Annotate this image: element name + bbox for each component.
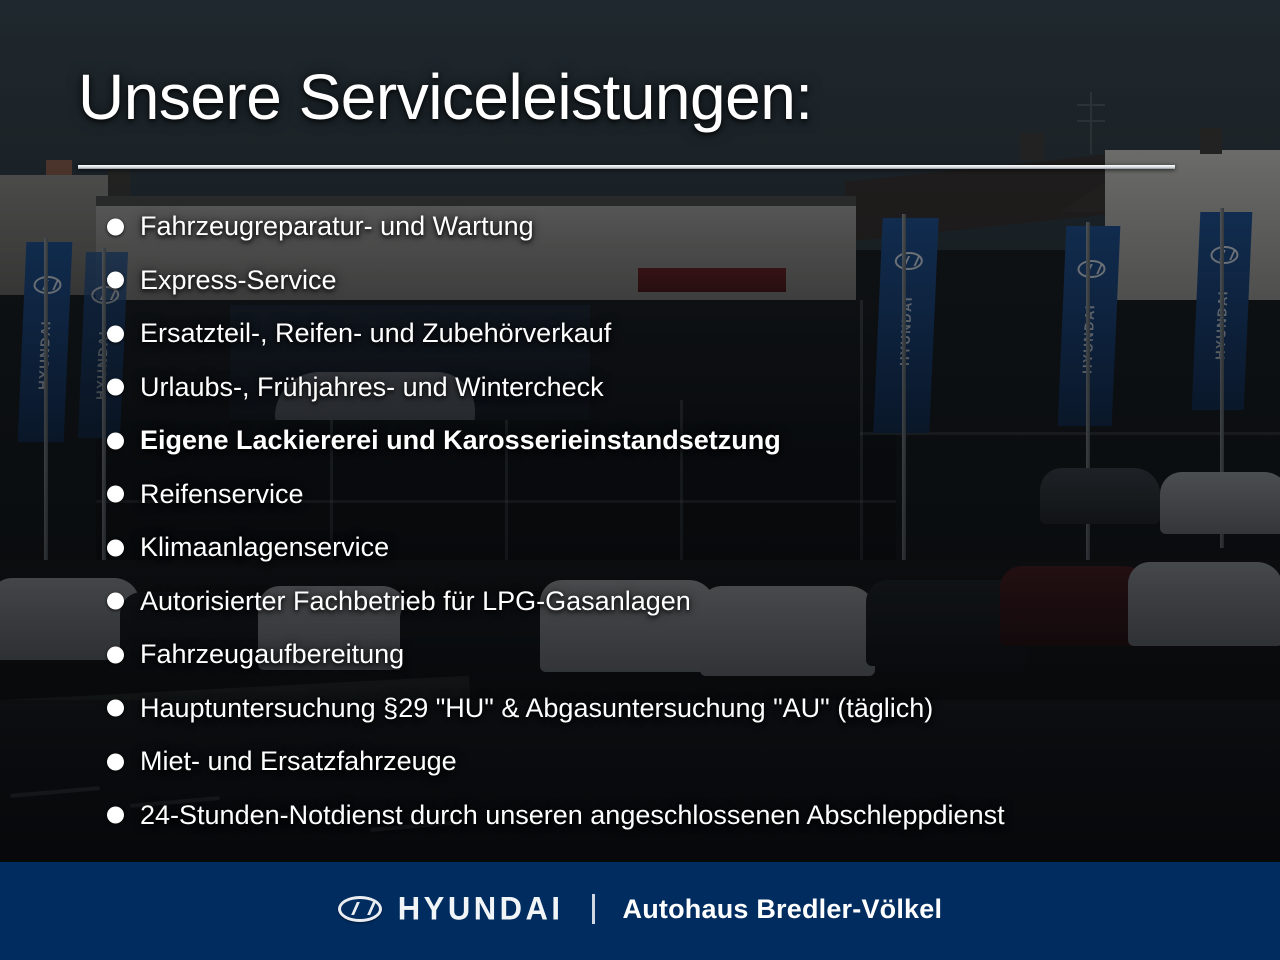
bullet-icon (107, 539, 124, 556)
list-item: Express-Service (100, 254, 1260, 308)
list-item-label: 24-Stunden-Notdienst durch unseren anges… (140, 800, 1005, 831)
bullet-icon (107, 325, 124, 342)
bullet-icon (107, 807, 124, 824)
hyundai-logo-icon (338, 896, 382, 922)
separator-divider (592, 894, 595, 924)
list-item: Ersatzteil-, Reifen- und Zubehörverkauf (100, 307, 1260, 361)
list-item: Reifenservice (100, 468, 1260, 522)
list-item-label: Eigene Lackiererei und Karosserieinstand… (140, 425, 781, 456)
bullet-icon (107, 646, 124, 663)
bullet-icon (107, 432, 124, 449)
list-item: Eigene Lackiererei und Karosserieinstand… (100, 414, 1260, 468)
title-divider (78, 165, 1175, 169)
list-item-label: Urlaubs-, Frühjahres- und Wintercheck (140, 372, 604, 403)
bullet-icon (107, 753, 124, 770)
list-item: Hauptuntersuchung §29 "HU" & Abgasunters… (100, 682, 1260, 736)
page-title: Unsere Serviceleistungen: (78, 60, 813, 134)
list-item-label: Fahrzeugaufbereitung (140, 639, 404, 670)
list-item-label: Ersatzteil-, Reifen- und Zubehörverkauf (140, 318, 611, 349)
list-item-label: Klimaanlagenservice (140, 532, 389, 563)
list-item-label: Fahrzeugreparatur- und Wartung (140, 211, 534, 242)
list-item-label: Express-Service (140, 265, 337, 296)
services-list: Fahrzeugreparatur- und Wartung Express-S… (100, 200, 1260, 842)
slide-content: Unsere Serviceleistungen: Fahrzeugrepara… (0, 0, 1280, 960)
footer-bar: HYUNDAI Autohaus Bredler-Völkel (0, 862, 1280, 960)
bullet-icon (107, 218, 124, 235)
bullet-icon (107, 700, 124, 717)
bullet-icon (107, 486, 124, 503)
list-item: Fahrzeugreparatur- und Wartung (100, 200, 1260, 254)
list-item-label: Autorisierter Fachbetrieb für LPG-Gasanl… (140, 586, 691, 617)
list-item: Fahrzeugaufbereitung (100, 628, 1260, 682)
bullet-icon (107, 379, 124, 396)
list-item-label: Reifenservice (140, 479, 304, 510)
brand-wordmark: HYUNDAI (398, 890, 564, 928)
bullet-icon (107, 593, 124, 610)
list-item: 24-Stunden-Notdienst durch unseren anges… (100, 789, 1260, 843)
list-item: Autorisierter Fachbetrieb für LPG-Gasanl… (100, 575, 1260, 629)
list-item: Miet- und Ersatzfahrzeuge (100, 735, 1260, 789)
list-item-label: Miet- und Ersatzfahrzeuge (140, 746, 457, 777)
list-item: Klimaanlagenservice (100, 521, 1260, 575)
list-item-label: Hauptuntersuchung §29 "HU" & Abgasunters… (140, 693, 933, 724)
dealer-name: Autohaus Bredler-Völkel (623, 894, 943, 925)
list-item: Urlaubs-, Frühjahres- und Wintercheck (100, 361, 1260, 415)
footer-brand-lockup: HYUNDAI Autohaus Bredler-Völkel (338, 891, 942, 927)
bullet-icon (107, 272, 124, 289)
presentation-slide: HYUNDAI HYUNDAI HYUNDAI HYUNDAI HYUNDAI (0, 0, 1280, 960)
